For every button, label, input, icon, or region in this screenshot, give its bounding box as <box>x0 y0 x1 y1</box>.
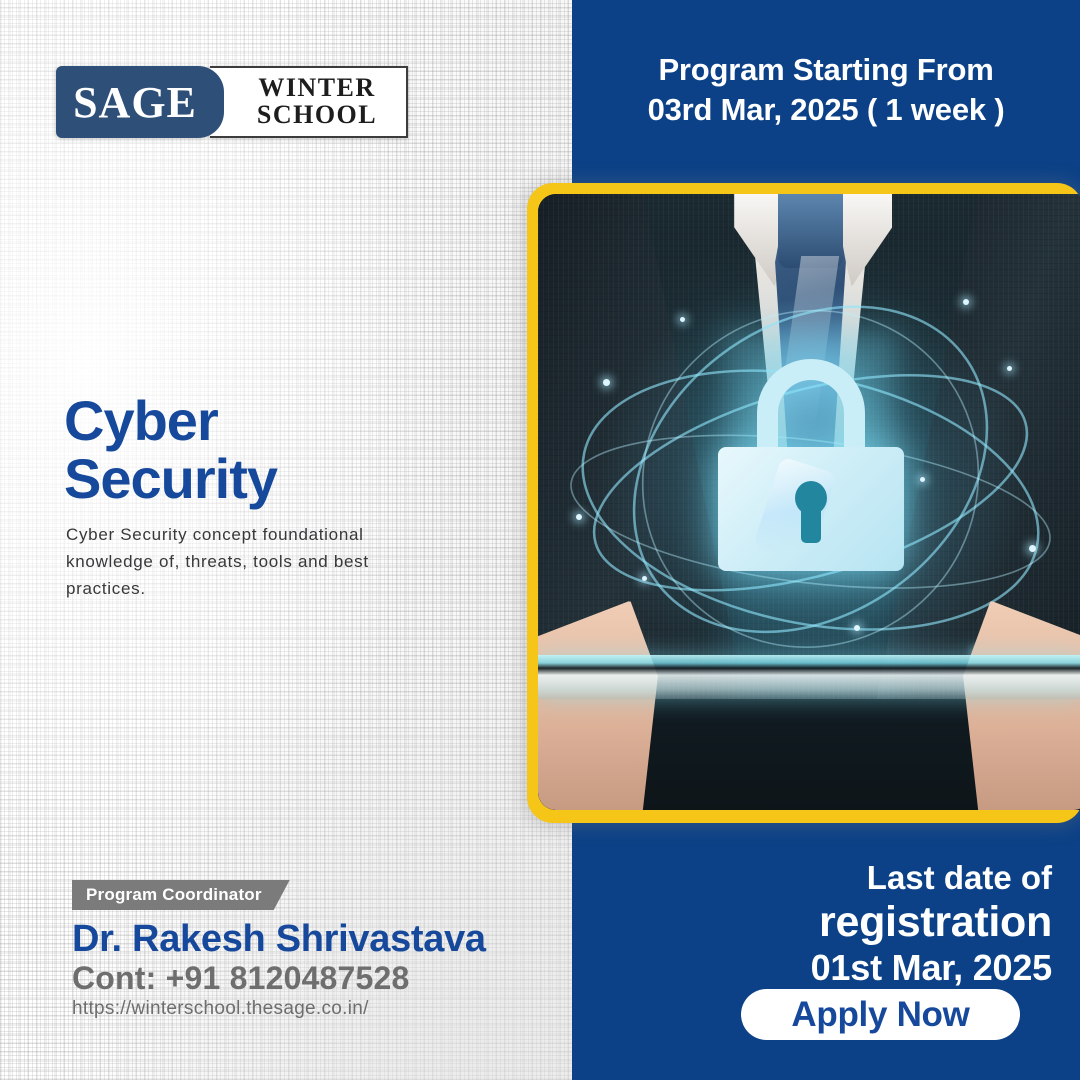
registration-line2: registration <box>600 898 1052 946</box>
padlock-keyhole <box>795 481 827 515</box>
logo-school-text: SCHOOL <box>257 102 377 129</box>
logo-sage-text: SAGE <box>73 77 207 128</box>
sage-winter-school-logo: SAGE WINTER SCHOOL <box>56 66 408 138</box>
registration-line1: Last date of <box>600 858 1052 898</box>
logo-winter-text: WINTER <box>258 75 375 102</box>
logo-winter-school-block: WINTER SCHOOL <box>210 66 408 138</box>
logo-sage-block: SAGE <box>56 66 224 138</box>
sparkle-dot <box>642 576 647 581</box>
sparkle-dot <box>920 477 925 482</box>
course-description: Cyber Security concept foundational know… <box>66 522 406 603</box>
program-coordinator-label: Program Coordinator <box>86 885 262 905</box>
photo-card-yellow-frame <box>527 183 1080 823</box>
apply-now-button[interactable]: Apply Now <box>741 989 1020 1040</box>
glass-tablet-panel <box>538 655 1080 699</box>
padlock-icon <box>718 359 904 571</box>
sparkle-dot <box>963 299 969 305</box>
apply-now-label: Apply Now <box>791 995 969 1035</box>
hand-right <box>963 601 1080 810</box>
padlock-gleam <box>753 456 837 563</box>
registration-date: 01st Mar, 2025 <box>600 946 1052 990</box>
cyber-security-photo <box>538 194 1080 810</box>
hand-left <box>538 601 658 810</box>
title-line-2: Security <box>64 450 484 508</box>
registration-deadline-block: Last date of registration 01st Mar, 2025 <box>600 858 1052 990</box>
program-start-line2: 03rd Mar, 2025 ( 1 week ) <box>580 90 1072 130</box>
poster: SAGE WINTER SCHOOL Program Starting From… <box>0 0 1080 1080</box>
program-coordinator-badge: Program Coordinator <box>72 880 290 910</box>
coordinator-contact: Cont: +91 8120487528 <box>72 960 410 997</box>
page-title: Cyber Security <box>64 392 484 507</box>
program-start-line1: Program Starting From <box>580 50 1072 90</box>
sparkle-dot <box>1029 545 1036 552</box>
registration-website-link[interactable]: https://winterschool.thesage.co.in/ <box>72 998 369 1020</box>
title-line-1: Cyber <box>64 392 484 450</box>
coordinator-name: Dr. Rakesh Shrivastava <box>72 918 486 961</box>
sparkle-dot <box>680 317 685 322</box>
program-start-header: Program Starting From 03rd Mar, 2025 ( 1… <box>580 50 1072 131</box>
